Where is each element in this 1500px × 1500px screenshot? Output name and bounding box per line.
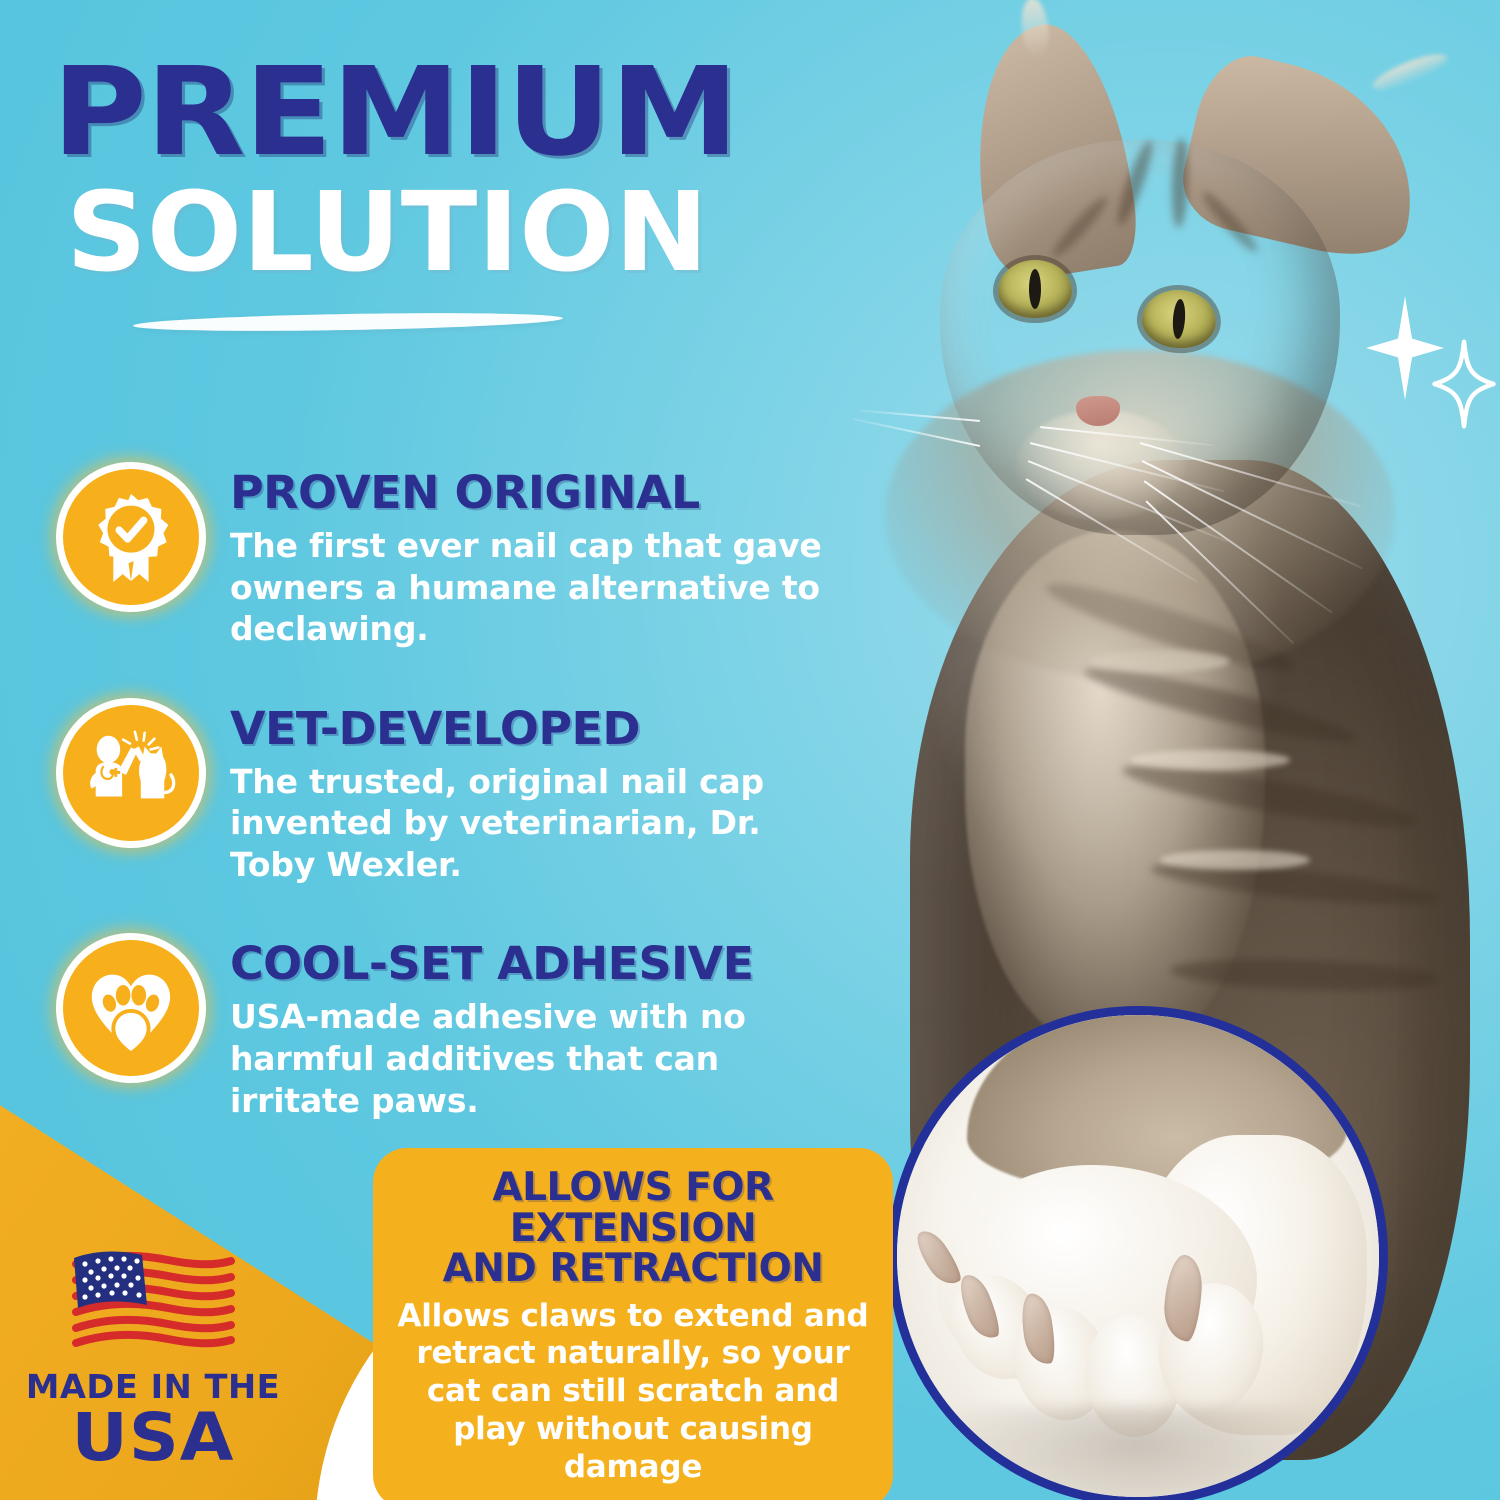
title-underline-swoosh xyxy=(133,310,563,334)
sparkle-star-small-icon xyxy=(1432,338,1496,430)
cat-ear-tuft xyxy=(1369,48,1451,97)
feature-item-vet-developed: VET-DEVELOPED The trusted, original nail… xyxy=(56,698,856,886)
feature-description: The first ever nail cap that gave owners… xyxy=(230,525,850,650)
headline-line-1: PREMIUM xyxy=(52,56,900,168)
callout-description: Allows claws to extend and retract natur… xyxy=(391,1298,875,1487)
made-in-usa-badge: MADE IN THE USA xyxy=(28,1248,278,1472)
award-ribbon-check-icon xyxy=(56,462,206,612)
feature-title: COOL-SET ADHESIVE xyxy=(230,941,862,986)
feature-description: The trusted, original nail cap invented … xyxy=(230,761,850,886)
callout-title-line-1: ALLOWS FOR EXTENSION xyxy=(391,1168,875,1249)
cat-eye-left xyxy=(998,260,1072,318)
callout-title-line-2: AND RETRACTION xyxy=(391,1249,875,1290)
callout-title: ALLOWS FOR EXTENSION AND RETRACTION xyxy=(391,1168,875,1290)
made-in-usa-line-2: USA xyxy=(22,1403,285,1472)
feature-item-proven-original: PROVEN ORIGINAL The first ever nail cap … xyxy=(56,462,856,650)
feature-title: VET-DEVELOPED xyxy=(230,706,862,751)
feature-title: PROVEN ORIGINAL xyxy=(230,470,862,515)
page-title: PREMIUM SOLUTION xyxy=(52,56,852,286)
headline-line-2: SOLUTION xyxy=(66,180,868,286)
extension-retraction-callout: ALLOWS FOR EXTENSION AND RETRACTION Allo… xyxy=(373,1148,893,1500)
feature-list: PROVEN ORIGINAL The first ever nail cap … xyxy=(56,462,856,1169)
cat-paw-with-nail-caps-closeup xyxy=(888,1006,1388,1500)
usa-flag-icon xyxy=(68,1248,238,1356)
product-infographic: PREMIUM SOLUTION PROVEN ORIGINAL The fir… xyxy=(0,0,1500,1500)
vet-high-five-cat-icon xyxy=(56,698,206,848)
heart-paw-icon xyxy=(56,933,206,1083)
